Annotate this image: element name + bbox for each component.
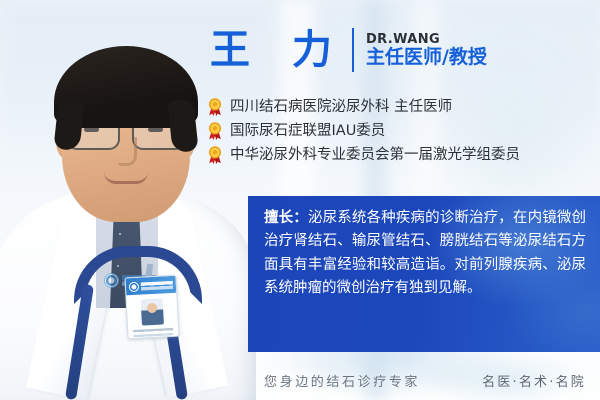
- id-badge-header: [125, 276, 176, 296]
- list-item: 四川结石病医院泌尿外科 主任医师: [207, 98, 520, 116]
- id-badge: [124, 275, 179, 340]
- id-badge-header-text: [141, 280, 173, 290]
- mouth: [104, 172, 148, 184]
- doctor-name-row: 王 力 DR.WANG 主任医师/教授: [210, 28, 487, 72]
- credential-text: 中华泌尿外科专业委员会第一届激光学组委员: [230, 147, 520, 164]
- hair: [54, 46, 198, 128]
- doctor-name-cn: 王 力: [210, 30, 348, 70]
- id-badge-photo: [141, 298, 164, 325]
- credential-text: 四川结石病医院泌尿外科 主任医师: [230, 99, 452, 116]
- expertise-text: 泌尿系统各种疾病的诊断治疗，在内镜微创治疗肾结石、输尿管结石、膀胱结石等泌尿结石…: [264, 210, 586, 296]
- list-item: 中华泌尿外科专业委员会第一届激光学组委员: [207, 146, 520, 164]
- name-divider: [352, 28, 354, 72]
- footer-bar: 您身边的结石诊疗专家 名医·名术·名院: [248, 360, 600, 400]
- doctor-rank: 主任医师/教授: [366, 48, 487, 67]
- doctor-profile-banner: 王 力 DR.WANG 主任医师/教授 四川结石病医院泌尿外科 主任医师: [0, 0, 600, 400]
- doctor-title-group: DR.WANG 主任医师/教授: [366, 33, 487, 67]
- expertise-body: 擅长：泌尿系统各种疾病的诊断治疗，在内镜微创治疗肾结石、输尿管结石、膀胱结石等泌…: [248, 196, 600, 301]
- medal-icon: [207, 98, 223, 116]
- hospital-logo-icon: [104, 273, 119, 288]
- nose: [118, 137, 137, 166]
- medal-icon: [207, 146, 223, 164]
- medal-icon: [207, 122, 223, 140]
- doctor-name-en: DR.WANG: [366, 33, 487, 46]
- list-item: 国际尿石症联盟IAU委员: [207, 122, 520, 140]
- credentials-list: 四川结石病医院泌尿外科 主任医师 国际尿石症联盟IAU委员: [207, 98, 520, 164]
- footer-tagline-right: 名医·名术·名院: [482, 371, 586, 390]
- expertise-panel: 擅长：泌尿系统各种疾病的诊断治疗，在内镜微创治疗肾结石、输尿管结石、膀胱结石等泌…: [248, 196, 600, 352]
- content-column: 王 力 DR.WANG 主任医师/教授 四川结石病医院泌尿外科 主任医师: [205, 0, 600, 400]
- id-badge-logo-icon: [129, 281, 140, 292]
- expertise-label: 擅长：: [264, 210, 308, 226]
- footer-tagline-left: 您身边的结石诊疗专家: [264, 371, 420, 390]
- credential-text: 国际尿石症联盟IAU委员: [230, 123, 385, 140]
